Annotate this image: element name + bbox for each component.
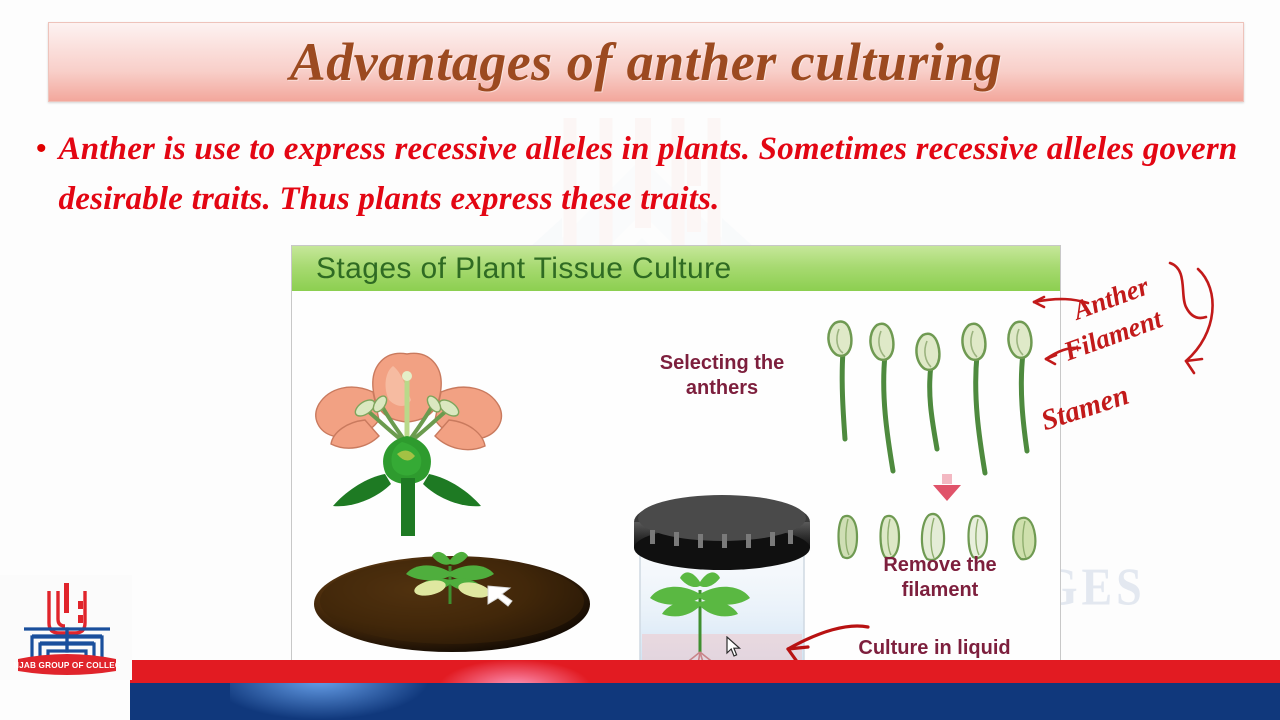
slide-title-banner: Advantages of anther culturing [48, 22, 1244, 102]
plant-tissue-culture-diagram: Stages of Plant Tissue Culture [291, 245, 1061, 663]
label-culture-liquid-media: Culture in liquid media [827, 636, 1042, 663]
mouse-cursor [726, 636, 742, 658]
bullet-paragraph: • Anther is use to express recessive all… [36, 124, 1251, 224]
slide-canvas: PUNJAB GROUP OF COLLEGES Advantages of a… [0, 0, 1280, 720]
footer-bar-blue-highlight [230, 683, 430, 720]
petri-dish-solid-media [302, 546, 612, 663]
page-title: Advantages of anther culturing [290, 31, 1003, 93]
footer-bar-red-highlight [440, 660, 590, 683]
diagram-body: Selecting the anthers [292, 291, 1060, 662]
punjab-group-of-colleges-logo: PUNJAB GROUP OF COLLEGES [14, 579, 120, 677]
label-remove-filament: Remove the filament [845, 553, 1035, 603]
bullet-marker: • [36, 124, 47, 224]
process-down-arrow-icon [932, 474, 962, 504]
bullet-body-text: Anther is use to express recessive allel… [59, 124, 1251, 224]
logo-panel: PUNJAB GROUP OF COLLEGES [0, 575, 132, 680]
annotation-anther: Anther [1069, 271, 1153, 327]
stamen-row-illustration [827, 313, 1052, 493]
flower-illustration [307, 336, 507, 536]
footer-bar-red [130, 660, 1280, 683]
diagram-header-bar: Stages of Plant Tissue Culture [292, 246, 1060, 291]
logo-ribbon-text: PUNJAB GROUP OF COLLEGES [14, 661, 120, 670]
label-selecting-anthers: Selecting the anthers [622, 351, 822, 401]
diagram-title: Stages of Plant Tissue Culture [316, 252, 732, 286]
annotation-filament: Filament [1060, 303, 1166, 367]
